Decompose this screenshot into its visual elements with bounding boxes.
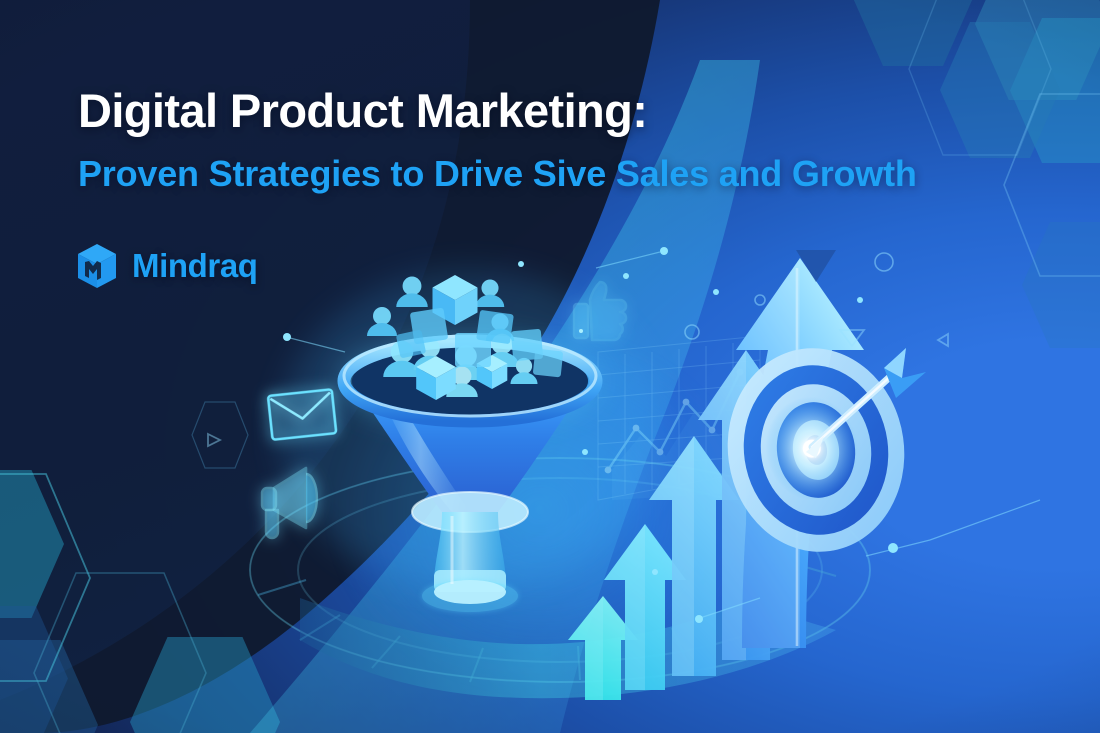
background-vignette bbox=[0, 0, 1100, 733]
marketing-banner: Digital Product Marketing: Proven Strate… bbox=[0, 0, 1100, 733]
